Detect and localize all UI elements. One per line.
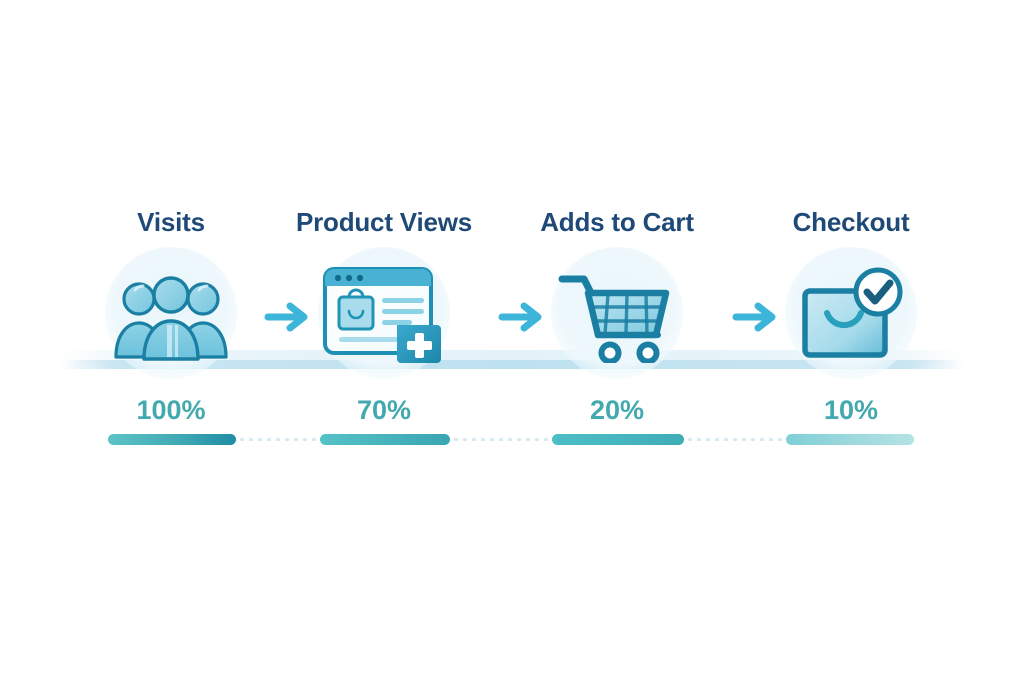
percent-value-checkout: 10% (758, 392, 944, 428)
progress-bar-checkout (786, 434, 914, 445)
progress-bar-adds-to-cart (552, 434, 684, 445)
arrow-right-icon (732, 295, 780, 339)
people-group-icon (111, 269, 231, 361)
browser-product-page-icon (319, 263, 449, 367)
stage-label-checkout: Checkout (758, 205, 944, 239)
arrow-right-icon (264, 295, 312, 339)
dotted-connector (688, 438, 782, 441)
funnel-stage-checkout[interactable]: Checkout (758, 205, 944, 371)
stage-label-product-views: Product Views (291, 205, 477, 239)
stage-icon-zone-product-views (291, 259, 477, 371)
percent-value-adds-to-cart: 20% (524, 392, 710, 428)
percent-value-visits: 100% (78, 392, 264, 428)
percent-row: 100% 70% 20% 10% (78, 392, 946, 432)
shopping-bag-check-icon (795, 267, 907, 363)
stage-label-adds-to-cart: Adds to Cart (524, 205, 710, 239)
funnel-infographic: Visits (0, 0, 1024, 683)
percent-value-product-views: 70% (291, 392, 477, 428)
progress-bar-visits (108, 434, 236, 445)
funnel-connector-1 (264, 295, 312, 339)
progress-bar-product-views (320, 434, 450, 445)
stage-icon-zone-visits (78, 259, 264, 371)
dotted-connector (454, 438, 548, 441)
dotted-connector (240, 438, 316, 441)
stage-icon-zone-adds-to-cart (524, 259, 710, 371)
funnel-stage-visits[interactable]: Visits (78, 205, 264, 371)
shopping-cart-icon (558, 267, 676, 363)
funnel-stages: Visits (78, 0, 946, 683)
stage-label-visits: Visits (78, 205, 264, 239)
arrow-right-icon (498, 295, 546, 339)
funnel-stage-product-views[interactable]: Product Views (291, 205, 477, 371)
funnel-connector-2 (498, 295, 546, 339)
progress-bar-row (78, 434, 946, 448)
funnel-stage-adds-to-cart[interactable]: Adds to Cart (524, 205, 710, 371)
funnel-connector-3 (732, 295, 780, 339)
stage-icon-zone-checkout (758, 259, 944, 371)
